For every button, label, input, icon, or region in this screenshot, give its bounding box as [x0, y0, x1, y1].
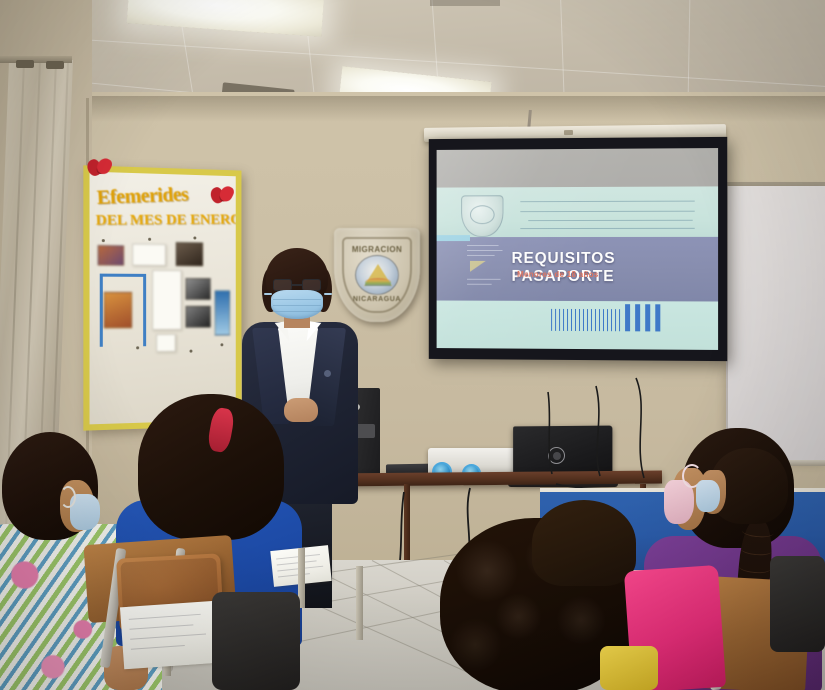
blue-tape-vertical-left [100, 274, 103, 347]
screen-pull-knob[interactable] [564, 130, 573, 135]
pinned-photo-1 [98, 245, 124, 266]
slide-title: REQUISITOS PASAPORTE [512, 250, 710, 286]
blue-tape-horizontal [100, 274, 146, 277]
attendee-far-right [700, 448, 825, 558]
bulletin-board-surface: Efemerides DEL MES DE ENERO [90, 172, 236, 425]
slide-sidebar-triangle-icon [470, 261, 486, 272]
red-bow-right [211, 185, 234, 207]
slide-accent-chip [437, 235, 470, 241]
pinned-paper-2 [152, 270, 182, 330]
backpack-yellow-item [600, 646, 658, 690]
push-pin-1 [102, 239, 105, 242]
efemerides-bulletin-board: Efemerides DEL MES DE ENERO [83, 165, 241, 430]
pinned-banner [215, 290, 230, 335]
mask-ear-loop [60, 486, 76, 508]
chair-leg-center [356, 566, 363, 640]
pinned-photo-2 [176, 242, 203, 266]
push-pin-4 [136, 346, 139, 349]
pinned-photo-5 [186, 306, 211, 328]
mask-strap-left [264, 293, 272, 295]
chair-seat-dark-left[interactable] [212, 592, 300, 690]
chair-seat-dark[interactable] [770, 556, 825, 652]
mask-strap-right [324, 293, 332, 295]
curtain-bracket-1 [16, 60, 34, 68]
attendee-head [138, 394, 284, 540]
classroom-photo-scene: Efemerides DEL MES DE ENERO [0, 0, 825, 690]
seal-rainbow-arc [365, 278, 391, 286]
pinned-paper-1 [132, 244, 166, 266]
presenter-jacket-zip [324, 370, 331, 377]
whiteboard [726, 186, 825, 463]
push-pin-6 [220, 343, 223, 346]
face-mask-icon [271, 290, 323, 319]
projection-surface: REQUISITOS PASAPORTE Menores de 18 años [437, 148, 718, 350]
attendee-mask-icon [696, 480, 720, 512]
push-pin-5 [190, 350, 193, 353]
presentation-slide: REQUISITOS PASAPORTE Menores de 18 años [437, 148, 718, 350]
pinned-paper-3 [156, 334, 176, 352]
push-pin-2 [148, 238, 151, 241]
pinned-photo-4 [186, 278, 211, 300]
slide-subtitle: Menores de 18 años [517, 270, 704, 279]
pinned-photo-3 [104, 292, 132, 329]
pull-down-projection-screen: REQUISITOS PASAPORTE Menores de 18 años [429, 137, 727, 361]
bulletin-title-line2: DEL MES DE ENERO [95, 212, 235, 230]
blue-tape-vertical-right [143, 274, 146, 346]
ceiling-light-panel-1 [127, 0, 325, 37]
ceiling-vent [430, 0, 500, 6]
hp-logo-icon [548, 447, 565, 464]
curtain-bracket-2 [46, 61, 64, 69]
push-pin-3 [193, 236, 196, 239]
notes-paper-front[interactable] [120, 601, 220, 670]
wall-ceiling-shadow [0, 96, 825, 122]
slide-bottom-band [437, 301, 718, 350]
red-bow-left [87, 157, 111, 180]
